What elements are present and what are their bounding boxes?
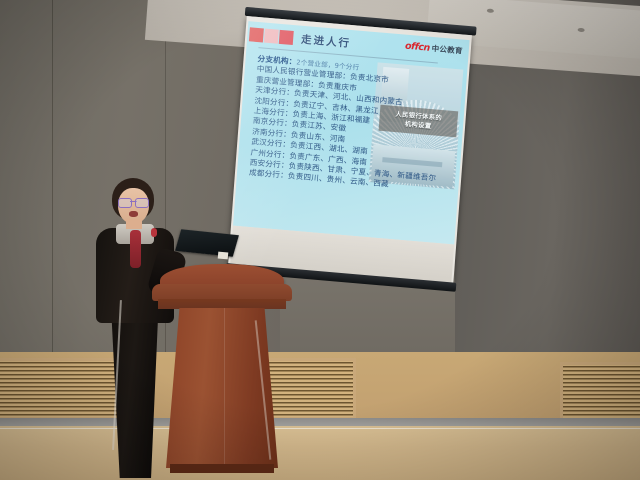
- header-square-red-2: [279, 30, 294, 45]
- microphone-icon: [151, 228, 157, 237]
- logo-wordmark: offcn: [405, 41, 430, 53]
- presentation-photo-scene: 走进人行 offcn 中公教育 人民银行体系的 机构设置: [0, 0, 640, 480]
- header-square-pink: [264, 29, 279, 44]
- speaker-mouth: [129, 211, 138, 217]
- screen-surface: 走进人行 offcn 中公教育 人民银行体系的 机构设置: [228, 16, 472, 283]
- acoustic-slat-panel: [560, 362, 640, 424]
- header-square-red: [249, 27, 264, 42]
- glasses-icon: [118, 198, 149, 206]
- acoustic-slat-panel: [264, 358, 356, 420]
- podium-lip-lower: [158, 299, 286, 309]
- speaker-neck: [126, 219, 142, 229]
- stage-floor: [0, 426, 640, 480]
- slide-body-text: 分支机构：2个营业部，9个分行 中国人民银行营业管理部：负责北京市 重庆营业管理…: [249, 54, 458, 196]
- slide-title: 走进人行: [301, 32, 352, 51]
- laptop-label-tag: [218, 252, 229, 260]
- presentation-slide: 走进人行 offcn 中公教育 人民银行体系的 机构设置: [233, 21, 470, 244]
- speaker-scarf: [130, 230, 141, 268]
- projection-screen: 走进人行 offcn 中公教育 人民银行体系的 机构设置: [227, 13, 472, 297]
- podium-base: [170, 464, 274, 473]
